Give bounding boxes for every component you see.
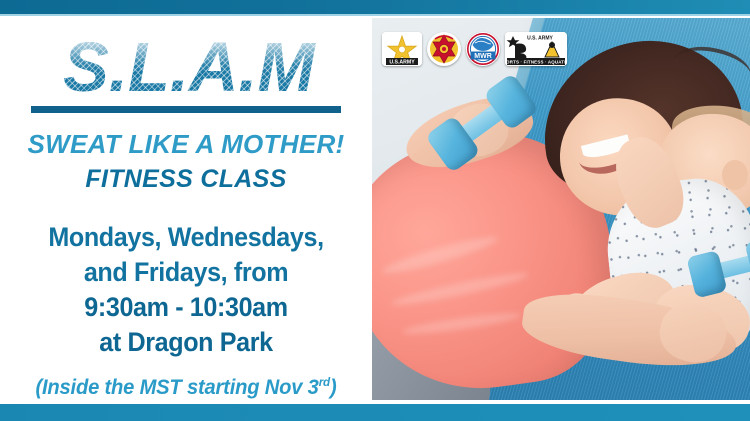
text-panel: S.L.A.M SWEAT LIKE A MOTHER! FITNESS CLA… [0,16,372,404]
svg-text:U.S.ARMY: U.S.ARMY [389,59,415,65]
schedule-block: Mondays, Wednesdays, and Fridays, from 9… [0,220,372,360]
acronym-block: S.L.A.M [0,28,372,110]
baby-ear [722,160,748,190]
svg-text:SPORTS · FITNESS · AQUATICS: SPORTS · FITNESS · AQUATICS [505,59,567,64]
title-divider-rule [31,106,341,113]
hero-photo: U.S.ARMY [372,18,750,400]
svg-text:U.S. ARMY: U.S. ARMY [527,36,553,42]
slam-fitness-class-flyer: S.L.A.M SWEAT LIKE A MOTHER! FITNESS CLA… [0,0,750,421]
subtagline: FITNESS CLASS [0,165,372,194]
schedule-note-ordinal: rd [319,375,330,389]
schedule-line-time: 9:30am - 10:30am [13,290,359,325]
imcom-crest-icon [427,32,461,66]
tagline: SWEAT LIKE A MOTHER! [0,129,372,160]
schedule-note-prefix: (Inside the MST starting Nov 3 [35,376,318,399]
page-title: S.L.A.M [4,28,369,106]
bottom-accent-bar [0,404,750,421]
top-accent-bar [0,0,750,14]
schedule-note: (Inside the MST starting Nov 3rd) [7,376,364,400]
us-army-star-icon: U.S.ARMY [382,32,422,66]
army-sports-fitness-aquatics-icon: U.S. ARMY SPORTS · FITNESS · AQUATICS [505,32,567,66]
schedule-note-suffix: ) [330,376,337,399]
svg-text:MWR: MWR [474,53,492,60]
schedule-line-location: at Dragon Park [13,325,359,360]
schedule-line-days-2: and Fridays, from [13,255,359,290]
army-mwr-icon: MWR [466,32,500,66]
schedule-line-days-1: Mondays, Wednesdays, [13,220,359,255]
logo-strip: U.S.ARMY [382,32,567,66]
